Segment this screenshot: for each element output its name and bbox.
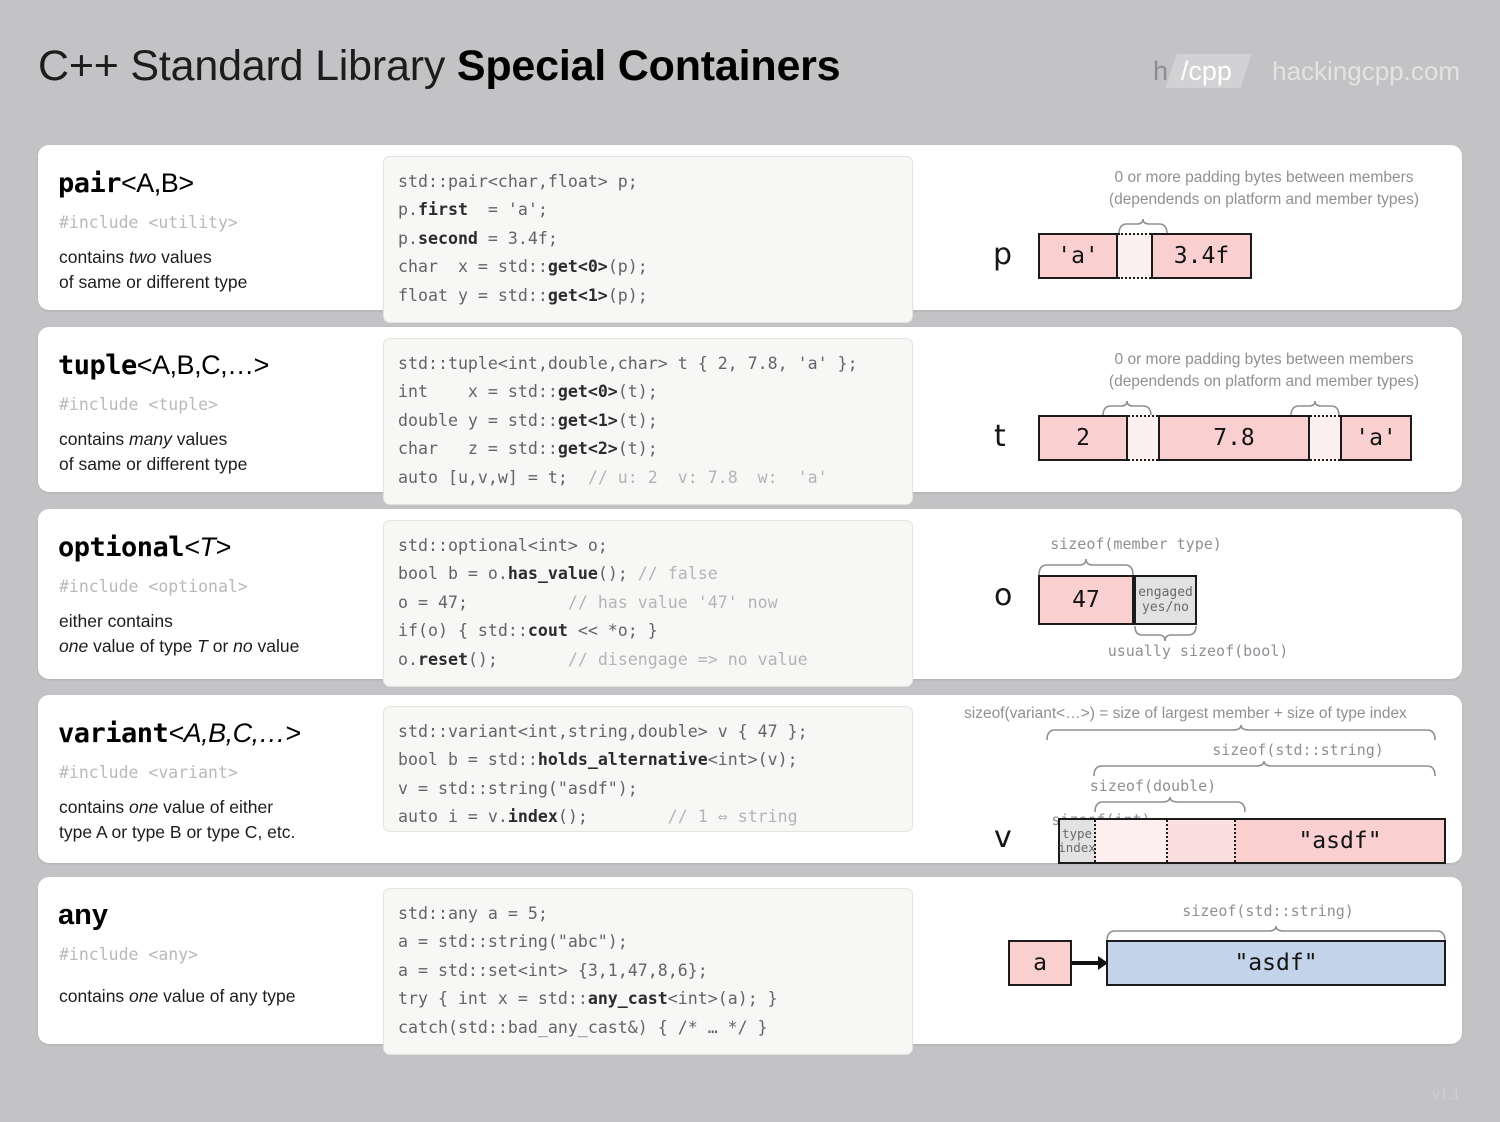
pair-blurb-line2: of same or different type (59, 272, 247, 292)
any-pointer-arrow (1072, 953, 1108, 973)
tuple-blurb-a: contains (59, 429, 129, 449)
variant-seg-double (1168, 820, 1236, 862)
optional-blurb-d: value (253, 636, 300, 656)
tuple-template-params: <A,B,C,…> (137, 350, 269, 380)
code-line: std::pair<char,float> p; p.first = 'a'; … (398, 172, 648, 305)
tuple-include: #include <tuple> (59, 395, 218, 414)
logo-cpp-label: cpp (1189, 56, 1233, 86)
any-code-block: std::any a = 5; a = std::string("abc"); … (383, 888, 913, 1055)
tuple-cell-padding-0 (1128, 415, 1158, 461)
variant-blurb-line2: type A or type B or type C, etc. (59, 822, 295, 842)
pair-blurb-em: two (129, 247, 156, 267)
any-blurb-a: contains (59, 986, 129, 1006)
tuple-diagram: 0 or more padding bytes between members … (958, 327, 1462, 492)
variant-note-total: sizeof(variant<…>) = size of largest mem… (958, 703, 1468, 725)
any-cell-string-value: "asdf" (1106, 940, 1446, 986)
page-title-light: C++ Standard Library (38, 42, 457, 90)
optional-memory-row: 47 engaged yes/no (1038, 575, 1197, 625)
brand-domain[interactable]: hackingcpp.com (1272, 56, 1460, 87)
variant-diagram: sizeof(variant<…>) = size of largest mem… (958, 695, 1462, 863)
pair-blurb: contains two values of same or different… (59, 245, 247, 295)
pair-cell-first: 'a' (1038, 233, 1118, 279)
optional-var-label: o (994, 578, 1012, 613)
variant-note-double: sizeof(double) (1028, 775, 1278, 797)
pair-title: pair<A,B> (58, 167, 194, 199)
pair-blurb-a: contains (59, 247, 129, 267)
optional-diagram: sizeof(member type) o 47 engaged yes/no … (958, 509, 1462, 679)
variant-include: #include <variant> (59, 763, 238, 782)
code-line: std::any a = 5; a = std::string("abc"); … (398, 904, 778, 1037)
card-any: any #include <any> contains one value of… (38, 877, 1462, 1044)
any-blurb-em: one (129, 986, 158, 1006)
variant-var-label: v (994, 820, 1012, 855)
any-cell-handle: a (1008, 940, 1072, 986)
logo-cpp-text: /cpp (1181, 56, 1232, 87)
variant-title: variant<A,B,C,…> (58, 717, 300, 749)
pair-cell-padding (1118, 233, 1151, 279)
variant-blurb-a: contains (59, 797, 129, 817)
pair-note-1: 0 or more padding bytes between members (1054, 167, 1474, 189)
optional-description: optional<T> #include <optional> either c… (58, 509, 388, 679)
tuple-var-label: t (994, 419, 1006, 454)
code-line: std::optional<int> o; bool b = o.has_val… (398, 536, 808, 669)
any-description: any #include <any> contains one value of… (58, 877, 388, 1044)
optional-blurb-line1: either contains (59, 611, 173, 631)
page-header: C++ Standard Library Special Containers … (0, 0, 1500, 130)
variant-blurb-em: one (129, 797, 158, 817)
any-blurb: contains one value of any type (59, 984, 295, 1009)
card-pair: pair<A,B> #include <utility> contains tw… (38, 145, 1462, 310)
variant-seg-type-index: type index (1060, 820, 1096, 862)
tuple-code-block: std::tuple<int,double,char> t { 2, 7.8, … (383, 338, 913, 505)
variant-index-line1: type (1062, 827, 1092, 841)
optional-name: optional (58, 532, 184, 563)
optional-flag-line2: yes/no (1142, 600, 1189, 615)
optional-cell-value: 47 (1038, 575, 1134, 625)
pair-diagram: 0 or more padding bytes between members … (958, 145, 1462, 310)
any-include: #include <any> (59, 945, 198, 964)
optional-blurb-em1: one (59, 636, 88, 656)
page-title: C++ Standard Library Special Containers (38, 42, 840, 91)
tuple-cell-1: 7.8 (1158, 415, 1310, 461)
hackingcpp-logo[interactable]: h /cpp (1153, 54, 1246, 88)
tuple-note-1: 0 or more padding bytes between members (1054, 349, 1474, 371)
pair-name: pair (58, 168, 121, 199)
tuple-title: tuple<A,B,C,…> (58, 349, 269, 381)
optional-title: optional<T> (58, 531, 231, 563)
tuple-description: tuple<A,B,C,…> #include <tuple> contains… (58, 327, 388, 492)
optional-brace-top (1038, 559, 1134, 576)
optional-blurb-em2: T (197, 636, 208, 656)
page-title-bold: Special Containers (457, 42, 841, 90)
optional-template-params: <T> (184, 532, 231, 562)
any-storage-box: "asdf" (1106, 940, 1446, 986)
pair-description: pair<A,B> #include <utility> contains tw… (58, 145, 388, 310)
any-blurb-b: value of any type (158, 986, 295, 1006)
optional-note-top: sizeof(member type) (1016, 533, 1256, 555)
any-handle-box: a (1008, 940, 1072, 986)
tuple-cell-0: 2 (1038, 415, 1128, 461)
optional-cell-engaged-flag: engaged yes/no (1134, 575, 1197, 625)
pair-include: #include <utility> (59, 213, 238, 232)
variant-name: variant (58, 718, 168, 749)
optional-include: #include <optional> (59, 577, 248, 596)
card-optional: optional<T> #include <optional> either c… (38, 509, 1462, 679)
version-label: v1.1 (1432, 1086, 1460, 1104)
any-note-top: sizeof(std::string) (1078, 900, 1458, 922)
tuple-blurb: contains many values of same or differen… (59, 427, 247, 477)
variant-seg-string: "asdf" (1236, 820, 1444, 862)
variant-description: variant<A,B,C,…> #include <variant> cont… (58, 695, 388, 863)
pair-note-2: (dependends on platform and member types… (1054, 189, 1474, 211)
tuple-name: tuple (58, 350, 137, 381)
optional-blurb-em3: no (233, 636, 252, 656)
tuple-cell-padding-1 (1310, 415, 1340, 461)
variant-blurb: contains one value of either type A or t… (59, 795, 295, 845)
variant-index-line2: index (1058, 841, 1096, 855)
code-line: std::variant<int,string,double> v { 47 }… (398, 722, 808, 826)
variant-blurb-b: value of either (158, 797, 273, 817)
tuple-memory-row: 2 7.8 'a' (1038, 415, 1412, 461)
variant-code-block: std::variant<int,string,double> v { 47 }… (383, 706, 913, 832)
optional-blurb: either contains one value of type T or n… (59, 609, 299, 659)
tuple-blurb-line2: of same or different type (59, 454, 247, 474)
tuple-blurb-b: values (172, 429, 227, 449)
optional-blurb-b: value of type (88, 636, 197, 656)
variant-seg-int (1096, 820, 1168, 862)
card-tuple: tuple<A,B,C,…> #include <tuple> contains… (38, 327, 1462, 492)
any-title: any (58, 899, 108, 932)
tuple-blurb-em: many (129, 429, 172, 449)
optional-note-bottom: usually sizeof(bool) (1068, 640, 1328, 662)
optional-code-block: std::optional<int> o; bool b = o.has_val… (383, 520, 913, 687)
code-line: std::tuple<int,double,char> t { 2, 7.8, … (398, 354, 858, 487)
variant-template-params: <A,B,C,…> (168, 718, 300, 748)
pair-code-block: std::pair<char,float> p; p.first = 'a'; … (383, 156, 913, 323)
pair-blurb-b: values (156, 247, 211, 267)
optional-blurb-c: or (208, 636, 233, 656)
tuple-cell-2: 'a' (1340, 415, 1412, 461)
any-diagram: sizeof(std::string) a "asdf" (958, 877, 1462, 1044)
card-variant: variant<A,B,C,…> #include <variant> cont… (38, 695, 1462, 863)
pair-template-params: <A,B> (121, 168, 194, 198)
optional-flag-line1: engaged (1138, 585, 1193, 600)
any-name: any (58, 899, 108, 931)
variant-memory-band: type index "asdf" (1058, 818, 1446, 864)
logo-cpp-badge: /cpp (1166, 54, 1252, 88)
tuple-note-2: (dependends on platform and member types… (1054, 371, 1474, 393)
pair-cell-second: 3.4f (1151, 233, 1252, 279)
brand: h /cpp hackingcpp.com (1153, 52, 1460, 90)
pair-var-label: p (993, 237, 1012, 272)
variant-note-string: sizeof(std::string) (1108, 739, 1488, 761)
pair-memory-row: 'a' 3.4f (1038, 233, 1252, 279)
